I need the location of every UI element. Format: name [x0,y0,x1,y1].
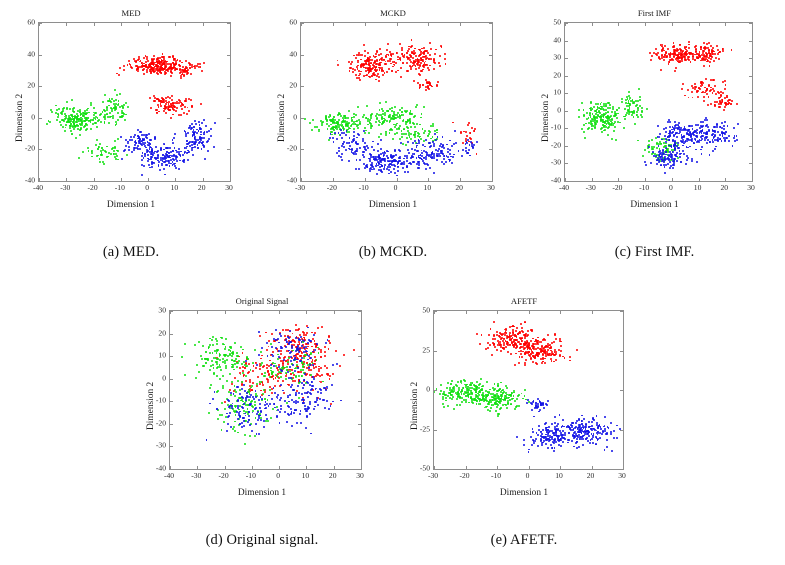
scatter-point [696,53,698,55]
scatter-point [700,149,702,151]
scatter-point [208,138,210,140]
panel-e-axes [433,310,624,470]
scatter-point [481,334,483,336]
scatter-point [260,358,262,360]
scatter-point [256,385,258,387]
scatter-point [149,167,151,169]
scatter-point [716,124,718,126]
y-tick-mark [565,111,568,112]
scatter-point [236,386,238,388]
scatter-point [353,128,355,130]
scatter-point [289,352,291,354]
scatter-point [226,430,228,432]
y-tick-mark [301,86,304,87]
scatter-point [419,74,421,76]
scatter-point [395,62,397,64]
scatter-point [128,146,130,148]
scatter-point [611,111,613,113]
scatter-point [230,394,232,396]
scatter-point [679,48,681,50]
scatter-point [310,393,312,395]
y-tick-mark [565,146,568,147]
scatter-point [377,150,379,152]
scatter-point [356,150,358,152]
scatter-point [328,336,330,338]
scatter-point [702,50,704,52]
scatter-point [110,153,112,155]
scatter-point [283,392,285,394]
y-tick-label: -10 [145,396,166,405]
y-tick-label: 60 [14,18,35,27]
scatter-point [367,57,369,59]
y-tick-mark [358,356,361,357]
scatter-point [471,145,473,147]
x-tick-mark [175,178,176,181]
scatter-point [602,108,604,110]
scatter-point [424,146,426,148]
scatter-point [55,105,57,107]
scatter-point [86,109,88,111]
scatter-point [435,139,437,141]
scatter-point [586,112,588,114]
scatter-point [205,125,207,127]
scatter-point [439,55,441,57]
scatter-point [182,154,184,156]
scatter-point [725,84,727,86]
scatter-point [170,117,172,119]
scatter-point [705,78,707,80]
scatter-point [659,141,661,143]
scatter-point [106,109,108,111]
scatter-point [296,409,298,411]
y-tick-mark [227,23,230,24]
scatter-point [544,358,546,360]
scatter-point [607,134,609,136]
scatter-point [318,370,320,372]
scatter-point [152,62,154,64]
scatter-point [286,402,288,404]
scatter-point [167,160,169,162]
scatter-point [242,407,244,409]
scatter-point [369,158,371,160]
scatter-point [433,58,435,60]
scatter-point [725,131,727,133]
scatter-point [187,107,189,109]
scatter-point [520,346,522,348]
scatter-point [682,141,684,143]
scatter-point [617,121,619,123]
scatter-point [285,378,287,380]
scatter-point [306,410,308,412]
scatter-point [412,142,414,144]
x-tick-mark [306,466,307,469]
scatter-point [158,161,160,163]
scatter-point [172,108,174,110]
scatter-point [414,153,416,155]
scatter-point [713,136,715,138]
scatter-point [433,68,435,70]
scatter-point [148,133,150,135]
x-tick-mark [66,23,67,26]
panel-b-scatter-canvas [301,23,492,181]
scatter-point [590,102,592,104]
scatter-point [297,345,299,347]
y-tick-label: 0 [14,112,35,121]
scatter-point [314,126,316,128]
scatter-point [147,160,149,162]
scatter-point [123,69,125,71]
scatter-point [172,142,174,144]
scatter-point [362,116,364,118]
y-tick-mark [358,334,361,335]
scatter-point [154,136,156,138]
scatter-point [668,63,670,65]
scatter-point [584,137,586,139]
panel-c-plot: First IMF Dimension 2 Dimension 1 -40-30… [524,0,785,222]
x-tick-mark [121,23,122,26]
scatter-point [170,103,172,105]
scatter-point [412,57,414,59]
scatter-point [198,371,200,373]
scatter-point [425,89,427,91]
scatter-point [384,119,386,121]
y-tick-mark [749,41,752,42]
scatter-point [696,141,698,143]
scatter-point [516,336,518,338]
scatter-point [210,135,212,137]
x-tick-mark [397,178,398,181]
scatter-point [329,375,331,377]
scatter-point [583,114,585,116]
scatter-point [336,152,338,154]
scatter-point [108,105,110,107]
scatter-point [290,373,292,375]
scatter-point [280,335,282,337]
scatter-point [73,128,75,130]
scatter-point [99,161,101,163]
scatter-point [296,359,298,361]
scatter-point [215,338,217,340]
scatter-point [476,153,478,155]
scatter-point [176,107,178,109]
scatter-point [712,150,714,152]
scatter-point [614,126,616,128]
scatter-point [356,77,358,79]
scatter-point [84,117,86,119]
y-tick-mark [39,181,42,182]
scatter-point [104,94,106,96]
scatter-point [258,399,260,401]
scatter-point [305,346,307,348]
scatter-point [314,349,316,351]
scatter-point [216,352,218,354]
scatter-point [451,398,453,400]
scatter-point [530,358,532,360]
scatter-point [333,116,335,118]
scatter-point [282,380,284,382]
scatter-point [380,53,382,55]
scatter-point [328,348,330,350]
x-tick-label: -10 [359,183,369,192]
scatter-point [672,167,674,169]
scatter-point [317,404,319,406]
scatter-point [429,42,431,44]
scatter-point [317,327,319,329]
scatter-point [520,343,522,345]
scatter-point [425,58,427,60]
scatter-point [216,343,218,345]
scatter-point [425,139,427,141]
scatter-point [266,349,268,351]
y-tick-mark [358,311,361,312]
scatter-point [147,154,149,156]
scatter-point [193,133,195,135]
scatter-point [265,407,267,409]
scatter-point [143,165,145,167]
scatter-point [262,393,264,395]
scatter-point [731,100,733,102]
scatter-point [493,321,495,323]
scatter-point [234,421,236,423]
scatter-point [444,58,446,60]
scatter-point [299,348,301,350]
scatter-point [247,408,249,410]
scatter-point [229,412,231,414]
scatter-point [103,109,105,111]
scatter-point [313,408,315,410]
scatter-point [268,340,270,342]
scatter-point [123,65,125,67]
scatter-point [351,61,353,63]
scatter-point [261,355,263,357]
scatter-point [445,161,447,163]
scatter-point [118,100,120,102]
scatter-point [223,421,225,423]
scatter-point [267,381,269,383]
scatter-point [505,346,507,348]
x-tick-mark [672,178,673,181]
scatter-point [443,147,445,149]
scatter-point [688,97,690,99]
scatter-point [555,359,557,361]
scatter-point [104,121,106,123]
scatter-point [413,64,415,66]
scatter-point [70,125,72,127]
scatter-point [362,154,364,156]
y-tick-label: 50 [540,18,561,27]
y-tick-mark [565,163,568,164]
y-tick-label: 20 [276,81,297,90]
scatter-point [732,145,734,147]
scatter-point [162,98,164,100]
scatter-point [150,139,152,141]
scatter-point [331,384,333,386]
scatter-point [664,54,666,56]
scatter-point [422,52,424,54]
y-tick-mark [749,23,752,24]
scatter-point [137,145,139,147]
scatter-point [185,133,187,135]
scatter-point [235,391,237,393]
scatter-point [697,124,699,126]
scatter-point [512,331,514,333]
scatter-point [212,336,214,338]
scatter-point [78,157,80,159]
scatter-point [202,345,204,347]
scatter-point [712,92,714,94]
scatter-point [128,149,130,151]
scatter-point [231,366,233,368]
scatter-point [116,123,118,125]
scatter-point [648,140,650,142]
scatter-point [343,141,345,143]
x-tick-label: -10 [639,183,649,192]
x-tick-label: -30 [586,183,596,192]
scatter-point [303,402,305,404]
scatter-point [386,120,388,122]
scatter-point [464,380,466,382]
scatter-point [451,162,453,164]
scatter-point [261,347,263,349]
scatter-point [280,405,282,407]
scatter-point [46,123,48,125]
scatter-point [616,117,618,119]
scatter-point [163,168,165,170]
scatter-point [716,45,718,47]
scatter-point [394,106,396,108]
scatter-point [638,88,640,90]
scatter-point [524,364,526,366]
scatter-point [185,147,187,149]
panel-e-title: AFETF [393,296,655,306]
scatter-point [303,384,305,386]
scatter-point [705,58,707,60]
scatter-point [669,121,671,123]
scatter-point [297,349,299,351]
scatter-point [249,435,251,437]
scatter-point [113,100,115,102]
y-tick-label: 0 [276,112,297,121]
scatter-point [58,108,60,110]
scatter-point [476,381,478,383]
scatter-point [389,60,391,62]
scatter-point [57,116,59,118]
scatter-point [332,137,334,139]
scatter-point [306,392,308,394]
scatter-point [178,168,180,170]
scatter-point [673,162,675,164]
scatter-point [384,164,386,166]
scatter-point [712,133,714,135]
scatter-point [644,161,646,163]
scatter-point [225,346,227,348]
scatter-point [409,136,411,138]
scatter-point [281,370,283,372]
scatter-point [542,357,544,359]
scatter-point [79,134,81,136]
scatter-point [399,156,401,158]
scatter-point [198,341,200,343]
scatter-point [715,57,717,59]
scatter-point [101,154,103,156]
scatter-point [392,155,394,157]
scatter-point [227,355,229,357]
scatter-point [426,64,428,66]
scatter-point [667,121,669,123]
scatter-point [603,103,605,105]
scatter-point [691,160,693,162]
scatter-point [604,129,606,131]
scatter-point [588,127,590,129]
scatter-point [187,132,189,134]
panel-e: AFETF Dimension 2 Dimension 1 -30-20-100… [393,288,655,549]
scatter-point [217,418,219,420]
scatter-point [165,103,167,105]
scatter-point [158,164,160,166]
scatter-point [245,415,247,417]
scatter-point [216,391,218,393]
scatter-point [280,376,282,378]
scatter-point [716,139,718,141]
scatter-point [490,328,492,330]
scatter-point [90,104,92,106]
scatter-point [326,367,328,369]
scatter-point [388,68,390,70]
scatter-point [357,124,359,126]
scatter-point [402,167,404,169]
scatter-point [449,140,451,142]
scatter-point [678,122,680,124]
scatter-point [700,60,702,62]
scatter-point [693,142,695,144]
scatter-point [74,115,76,117]
y-tick-mark [749,163,752,164]
scatter-point [710,58,712,60]
scatter-point [715,93,717,95]
x-tick-mark [492,23,493,26]
scatter-point [106,146,108,148]
scatter-point [289,394,291,396]
scatter-point [407,171,409,173]
scatter-point [699,88,701,90]
panel-d-xlabel: Dimension 1 [131,488,393,498]
scatter-point [420,138,422,140]
scatter-point [686,140,688,142]
y-tick-mark [565,181,568,182]
scatter-point [680,161,682,163]
scatter-point [237,407,239,409]
x-tick-label: 20 [455,183,463,192]
scatter-point [224,348,226,350]
scatter-point [695,124,697,126]
scatter-point [524,337,526,339]
scatter-point [175,167,177,169]
scatter-point [134,144,136,146]
scatter-point [550,346,552,348]
scatter-point [231,381,233,383]
scatter-point [127,142,129,144]
scatter-point [379,166,381,168]
panel-c-xlabel: Dimension 1 [524,200,785,210]
scatter-point [290,356,292,358]
scatter-point [665,151,667,153]
y-tick-mark [301,23,304,24]
scatter-point [454,130,456,132]
scatter-point [675,67,677,69]
scatter-point [172,139,174,141]
scatter-point [175,158,177,160]
scatter-point [607,107,609,109]
